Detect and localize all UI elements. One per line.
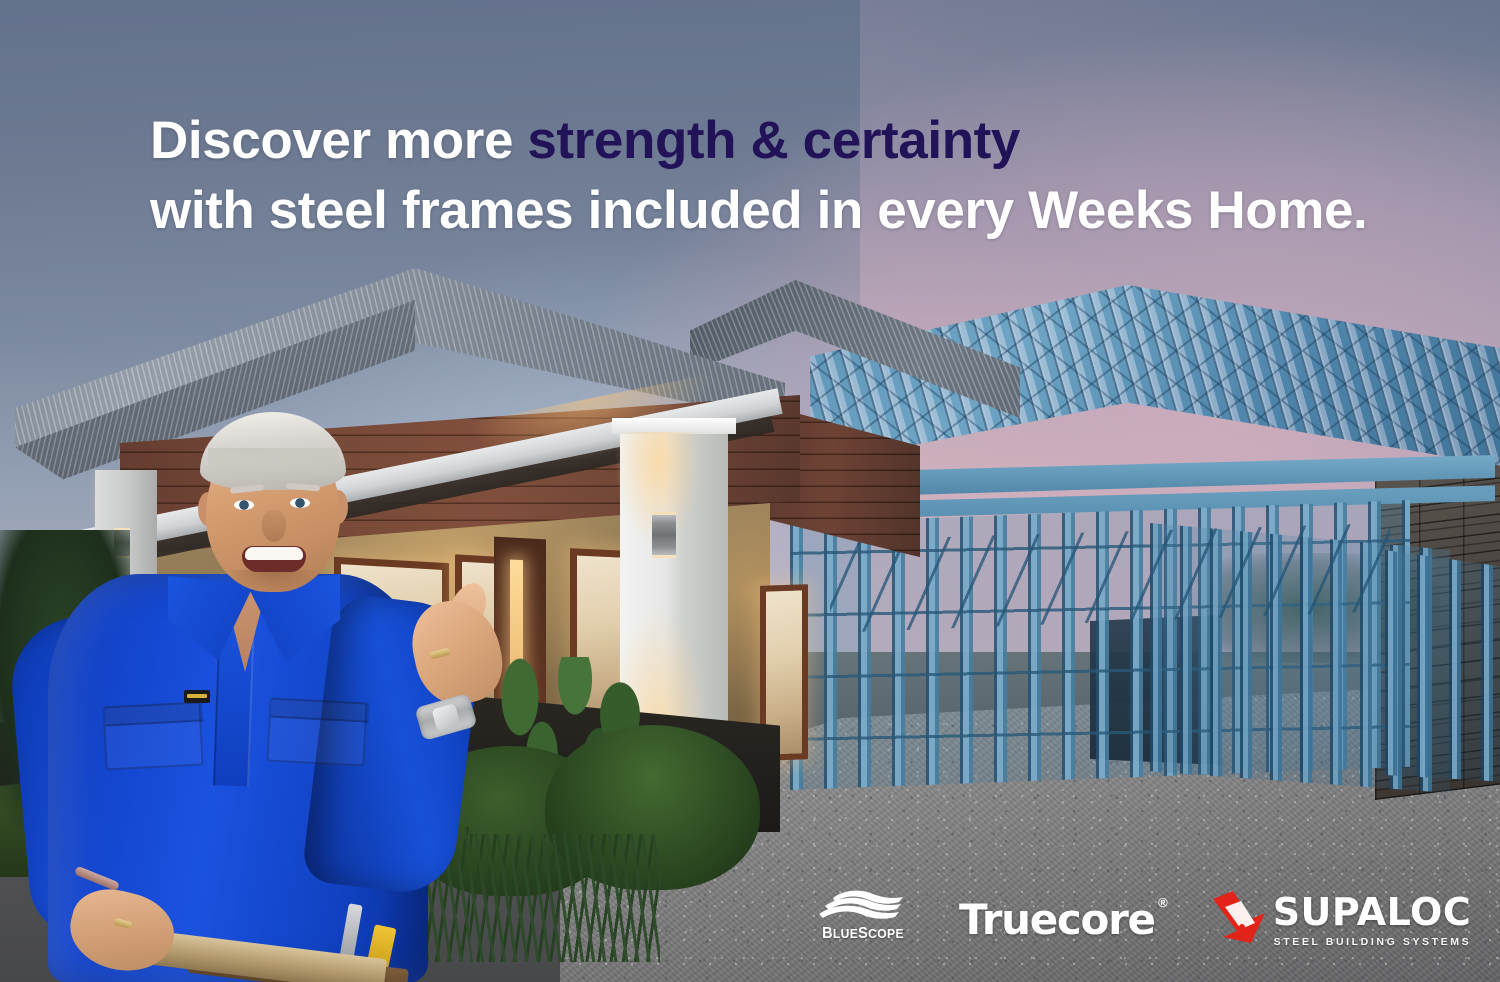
strappy-plant: [470, 834, 660, 962]
presenter-figure: [18, 404, 478, 982]
chin-shadow: [224, 570, 322, 592]
supaloc-text-block: SUPALOC STEEL BUILDING SYSTEMS: [1273, 889, 1472, 948]
headline: Discover more strength & certainty with …: [150, 106, 1350, 246]
presenter-teeth: [245, 547, 303, 560]
presenter-eye-right: [290, 498, 310, 508]
supaloc-wordmark: SUPALOC: [1273, 893, 1472, 931]
pocket-flap: [271, 698, 370, 723]
registered-trademark-icon: ®: [1158, 895, 1168, 910]
supaloc-tagline: STEEL BUILDING SYSTEMS: [1273, 936, 1472, 948]
steel-wall-frame-right: [1385, 535, 1500, 785]
supaloc-logo: SUPALOC STEEL BUILDING SYSTEMS: [1211, 889, 1472, 948]
partner-logo-bar: BLUESCOPE Truecore ® SUPALOC STEEL BUILD…: [805, 872, 1345, 964]
pocket-flap: [104, 701, 203, 726]
bluescope-wordmark: BLUESCOPE: [817, 925, 910, 943]
shirt-pocket-left: [102, 701, 203, 770]
headline-line-2: with steel frames included in every Week…: [150, 176, 1350, 246]
presenter-hair: [200, 412, 346, 490]
supaloc-angular-mark-icon: [1211, 889, 1269, 947]
presenter-eye-left: [234, 500, 254, 510]
headline-prefix: Discover more: [150, 111, 527, 170]
wall-light-icon: [652, 512, 676, 558]
truecore-logo: Truecore ®: [959, 893, 1155, 944]
truecore-wordmark: Truecore: [959, 895, 1155, 944]
headline-line-1: Discover more strength & certainty: [150, 106, 1350, 176]
headline-accent: strength & certainty: [527, 111, 1020, 170]
shirt-brand-tag: [184, 690, 210, 703]
bluescope-logo: BLUESCOPE: [813, 887, 913, 949]
presenter-smile: [242, 546, 306, 572]
shirt-pocket-right: [266, 697, 367, 766]
bluescope-wave-mark-icon: [813, 887, 913, 923]
advertising-banner: Discover more strength & certainty with …: [0, 0, 1500, 982]
presenter-nose: [262, 510, 286, 542]
